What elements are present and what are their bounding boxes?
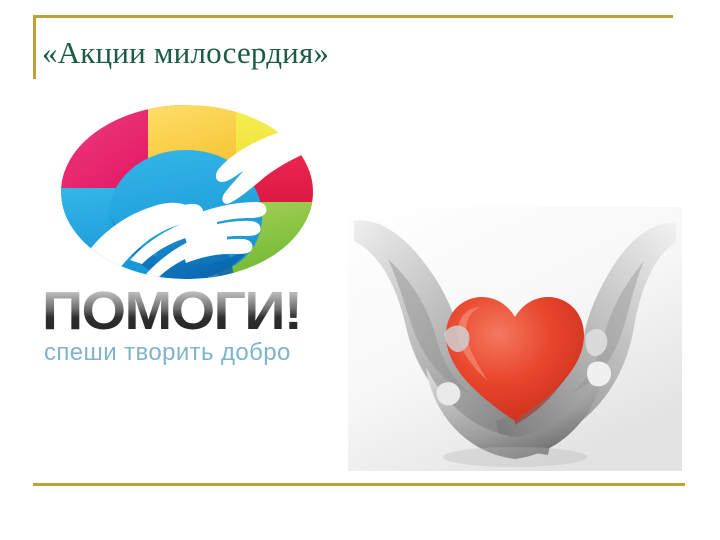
logo-wordmark-main: ПОМОГИ! [42,285,352,337]
charity-logo-block: ПОМОГИ! спеши творить добро [34,100,334,385]
hands-holding-red-heart-photo [348,207,682,471]
frame-rule-left [33,15,36,79]
logo-wordmark-sub: спеши творить добро [44,339,334,367]
frame-rule-bottom [33,483,685,486]
slide-canvas: «Акции милосердия» [0,0,720,540]
page-title: «Акции милосердия» [42,34,329,72]
frame-rule-top [33,15,673,18]
logo-wordmark: ПОМОГИ! спеши творить добро [42,285,334,367]
pomogi-logo-icon [58,102,316,282]
